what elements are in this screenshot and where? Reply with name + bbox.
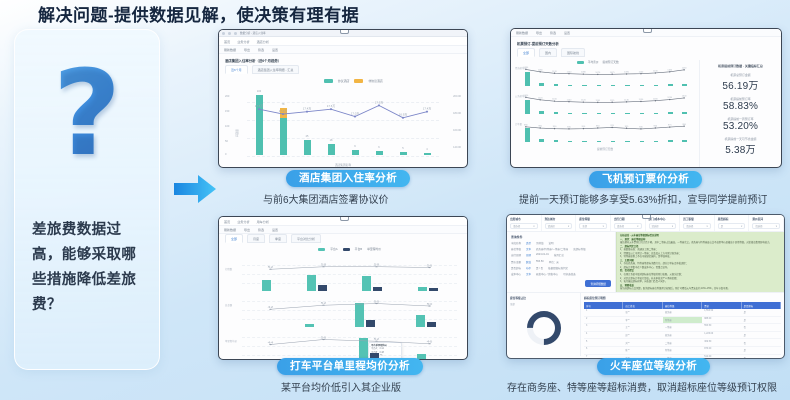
kpi-value: 5.38万 [703, 141, 778, 156]
toolbar-export[interactable]: 导出 [244, 228, 250, 232]
kpi-card: 机票提前一天可节省金额 5.38万 [703, 137, 778, 156]
toolbar-export[interactable]: 导出 [244, 48, 250, 52]
section-title: 酒店集团入住率分析（近6个月趋势） [219, 54, 467, 65]
filter-label: 出发城市 [510, 217, 538, 221]
dashboard-panel-train[interactable]: 出发城市请选择▾到达城市请选择▾座位等级全部▾出行日期请选择▾部门/成本中心请选… [506, 214, 785, 359]
svg-text:58: 58 [321, 263, 328, 266]
table-header-row: 序号员工姓名座位等级票价是否超标 [584, 302, 781, 309]
filter-input[interactable]: 请选择▾ [510, 223, 538, 229]
table-cell: 否 [742, 324, 781, 331]
filter-label: 出行日期 [614, 217, 642, 221]
legend-label: 平台B [355, 247, 362, 251]
filter-input[interactable]: 请选择▾ [614, 223, 642, 229]
legend-label: 非协议酒店 [368, 79, 382, 83]
svg-text:56: 56 [374, 300, 381, 303]
svg-text:1180: 1180 [667, 69, 672, 71]
tab-quarter[interactable]: 季度 [269, 234, 287, 243]
toolbar-refresh[interactable]: 刷新数据 [224, 48, 236, 52]
kpi-card: 机票总预订金额 56.19万 [703, 73, 778, 92]
chevron-down-icon: ▾ [776, 225, 777, 228]
filter-input[interactable]: 请选择▾ [649, 223, 677, 229]
table-cell: 是 [742, 347, 781, 354]
table-row[interactable]: 3王**一等座553.50否 [584, 324, 781, 332]
donut-title: 座位等级占比 [510, 296, 577, 300]
bar-group [305, 324, 314, 327]
svg-text:16.9万: 16.9万 [399, 113, 408, 117]
bar-group [416, 315, 436, 327]
tab-compare[interactable]: 平台对比分析 [291, 234, 321, 243]
list-item: 票价金额数值553.50单位：元 [511, 260, 611, 264]
svg-text:945: 945 [567, 126, 571, 128]
svg-text:950: 950 [582, 126, 586, 128]
badge-train: 火车座位等级分析 [597, 358, 710, 375]
query-condition-list: 查询条件 字段名称类型示例值说明座位等级文本商务座/特等座/一等座/二等座含超标… [507, 232, 616, 292]
table-cell: 6 [584, 347, 623, 354]
toolbar: 刷新数据 导出 筛选 设置 [219, 226, 467, 234]
kpi-value: 56.19万 [703, 77, 778, 92]
svg-text:17.9万: 17.9万 [375, 100, 384, 104]
svg-text:50: 50 [427, 302, 434, 305]
table-cell: 否 [742, 355, 781, 359]
caption-train: 存在商务座、特等座等超标消费，取消超标座位等级预订权限 [507, 379, 777, 394]
chevron-down-icon: ▾ [533, 225, 534, 228]
table-cell: 陈** [623, 347, 662, 354]
note-body: 1、按职级标准：普通员工限二等座；2、经理及以上可预订一等座；总监及以上方可预订… [620, 249, 781, 260]
filter-label: 到达城市 [545, 217, 573, 221]
filter-input[interactable]: 请选择▾ [545, 223, 573, 229]
bar-group [262, 280, 271, 291]
table-row[interactable]: 5刘**二等座309.50否 [584, 339, 781, 347]
tab-domestic[interactable]: 国内 [539, 48, 557, 57]
table-cell: 1,226.00 [702, 332, 741, 339]
chart-legend: 平台A 平台B 单里程均价 [318, 247, 381, 251]
bar-group [418, 287, 438, 291]
toolbar-settings[interactable]: 设置 [272, 228, 278, 232]
filter-input[interactable]: 请选择▾ [683, 223, 711, 229]
seat-class-donut: 座位等级占比 全部 [507, 293, 581, 356]
question-card: ? 差旅费数据过高，能够采取哪些措施降低差旅费？ [14, 29, 160, 370]
breadcrumb-item[interactable]: 首页 [224, 219, 230, 224]
filter-input[interactable]: 是▾ [718, 223, 746, 229]
table-cell: 否 [742, 339, 781, 346]
table-row[interactable]: 2李**特等座988.00是 [584, 317, 781, 325]
list-item: 是否超标布尔是 / 否依据职级标准判定 [511, 266, 611, 270]
filter-field[interactable]: 出发城市请选择▾ [507, 215, 542, 231]
question-mark-icon: ? [15, 54, 159, 172]
browser-chrome: 数据分析 - 酒店入住率 [219, 30, 467, 37]
table-cell: 1 [584, 309, 623, 316]
tab-strip[interactable]: 近6个月 酒店集团入住率明细 - 汇总 [219, 65, 467, 77]
svg-text:1070: 1070 [595, 72, 601, 74]
kpi-value: 53.20% [703, 121, 778, 132]
table-cell: 是 [742, 309, 781, 316]
y-axis-label: 间夜量 [235, 129, 239, 137]
kpi-panel-title: 机票提前预订数据 - 关键指标汇总 [703, 64, 778, 68]
y-tick: 150 [225, 110, 229, 113]
svg-text:975: 975 [668, 125, 672, 127]
note-body: 1、存在商务座、特等座等超标消费行为，部分订单未走审批流程；2、超标订单集中在少… [620, 263, 781, 270]
svg-text:1110: 1110 [596, 100, 601, 102]
tab-strip[interactable]: 全部 国内 国际航线 [511, 48, 781, 60]
table-cell: 刘** [623, 339, 662, 346]
grouped-bar-row: 总金额42525650 [224, 295, 462, 330]
note-body: 报告期内火车票预订共计若干笔，其中二等座占比最高，一等座次之，商务座与特等座虽占… [620, 242, 781, 246]
svg-text:990: 990 [682, 124, 686, 126]
toolbar-filter[interactable]: 筛选 [258, 48, 264, 52]
table-cell: 赵** [623, 332, 662, 339]
toolbar-filter[interactable]: 筛选 [258, 228, 264, 232]
caption-hotel: 与前6大集团酒店签署协议价 [263, 191, 389, 206]
tab-international[interactable]: 国际航线 [561, 48, 585, 57]
breadcrumb-item[interactable]: 业务分析 [237, 219, 249, 224]
kpi-card: 机票提前预订率 58.83% [703, 97, 778, 112]
legend-label: 平台A [330, 247, 337, 251]
table-header-cell: 票价 [702, 302, 741, 309]
y2-tick: 180.00 [453, 112, 461, 115]
caption-taxi: 某平台均价低引入其企业版 [281, 379, 401, 394]
svg-text:58: 58 [374, 263, 381, 266]
svg-text:1100: 1100 [639, 71, 644, 73]
toolbar-settings[interactable]: 设置 [272, 48, 278, 52]
list-title: 查询条件 [511, 235, 611, 239]
svg-text:980: 980 [524, 124, 528, 126]
table-cell: 特等座 [663, 317, 702, 324]
chevron-down-icon: ▾ [741, 225, 742, 228]
page-title: 解决问题-提供数据见解，使决策有理有据 [38, 1, 359, 26]
table-cell: 3 [584, 324, 623, 331]
svg-text:17.0万: 17.0万 [351, 111, 360, 115]
filter-field[interactable]: 部门/成本中心请选择▾ [646, 215, 681, 231]
legend-label: 单里程均价 [367, 247, 381, 251]
tab-all[interactable]: 全部 [517, 48, 535, 57]
svg-text:960: 960 [654, 126, 658, 128]
list-item: 成本中心文本研发中心 / 销售中心可多选筛选 [511, 272, 611, 276]
svg-text:970: 970 [610, 125, 614, 127]
toolbar-refresh[interactable]: 刷新数据 [516, 31, 528, 35]
svg-text:1115: 1115 [610, 100, 615, 102]
filter-field[interactable]: 座位等级全部▾ [576, 215, 611, 231]
x-axis-label: 提前预订天数 [515, 147, 695, 151]
toolbar-refresh[interactable]: 刷新数据 [224, 228, 236, 232]
toolbar-export[interactable]: 导出 [536, 31, 542, 35]
table-cell: 4 [584, 332, 623, 339]
series-label: 公务舱均价 [515, 94, 527, 98]
svg-text:52: 52 [268, 266, 274, 269]
table-cell: 是 [742, 332, 781, 339]
note-body: 1、在预订系统中取消超标座位等级的预订权限，从源头控制；2、对历史超标订单进行复… [620, 274, 781, 285]
table-cell: 876.00 [702, 347, 741, 354]
mini-chart-row: 980960950945950960970955945960975990订单量 [515, 120, 695, 146]
query-button[interactable]: 查询明细数据 [585, 280, 611, 287]
table-cell: 553.50 [702, 324, 741, 331]
note-block: 三、主要问题1、存在商务座、特等座等超标消费行为，部分订单未走审批流程；2、超标… [620, 260, 781, 271]
table-cell: 商务座 [663, 309, 702, 316]
table-cell: 988.00 [702, 317, 741, 324]
filter-field[interactable]: 是否超标是▾ [715, 215, 750, 231]
plot-area: 1007825189654 17.6万17.2万17.4万17.6万17.0万1… [247, 94, 439, 155]
y-tick: 100 [225, 125, 229, 128]
table-cell: 309.50 [702, 339, 741, 346]
breadcrumb: 首页 业务分析 酒店分析 [219, 37, 467, 46]
badge-flight: 飞机预订票价分析 [589, 171, 702, 188]
table-cell: 张** [623, 309, 662, 316]
table-cell: 特等座 [663, 347, 702, 354]
caption-flight: 提前一天预订能够多享受5.63%折扣，宣导同学提前预订 [519, 191, 767, 206]
note-body: 按当前超标占比测算，取消超标座位等级预订权限后，预计可降低火车票支出约 10%~… [620, 288, 781, 292]
table-header-cell: 是否超标 [742, 302, 781, 309]
toolbar-filter[interactable]: 筛选 [550, 31, 556, 35]
kpi-panel: 机票提前预订数据 - 关键指标汇总 机票总预订金额 56.19万 机票提前预订率… [699, 60, 781, 168]
svg-text:42: 42 [268, 306, 274, 309]
filter-bar[interactable]: 出发城市请选择▾到达城市请选择▾座位等级全部▾出行日期请选择▾部门/成本中心请选… [507, 215, 784, 232]
series-label: 订单量 [515, 122, 522, 126]
legend-label: 协议酒店 [338, 79, 350, 83]
svg-text:56: 56 [427, 264, 434, 267]
chevron-down-icon: ▾ [672, 225, 673, 228]
dashboard-panel-flight[interactable]: 刷新数据 导出 筛选 设置 机票预订-提前预订天数分析 全部 国内 国际航线 平… [510, 28, 782, 168]
donut-legend: 全部 [510, 302, 577, 306]
breadcrumb-item[interactable]: 用车分析 [257, 219, 269, 224]
filter-input[interactable]: 请选择▾ [752, 223, 780, 229]
flight-trend-charts: 平均票价 提前预订天数 1280118011201100108010701075… [511, 60, 699, 168]
filter-field[interactable]: 票价区间请选择▾ [749, 215, 784, 231]
svg-text:1075: 1075 [610, 72, 616, 74]
svg-text:945: 945 [639, 126, 643, 128]
table-cell: 李** [623, 317, 662, 324]
tab-all[interactable]: 全部 [225, 234, 243, 243]
overspend-table[interactable]: 超标座位预订明细 序号员工姓名座位等级票价是否超标 1张**商务座1,553.5… [581, 293, 784, 356]
list-item: 座位等级文本商务座/特等座/一等座/二等座含超标等级 [511, 247, 611, 251]
filter-label: 是否超标 [718, 217, 746, 221]
svg-text:17.4万: 17.4万 [303, 107, 312, 111]
svg-text:950: 950 [553, 126, 557, 128]
table-title: 超标座位预订明细 [584, 296, 781, 300]
y-tick: 0 [225, 153, 226, 156]
svg-text:1160: 1160 [552, 99, 557, 101]
svg-text:1140: 1140 [567, 99, 572, 101]
tab-month[interactable]: 月度 [247, 234, 265, 243]
toolbar-settings[interactable]: 设置 [564, 31, 570, 35]
svg-text:1100: 1100 [567, 71, 572, 73]
svg-text:44: 44 [268, 341, 275, 344]
table-cell: 商务座 [663, 332, 702, 339]
series-label: 经济舱均价 [515, 66, 527, 70]
dashboard-panel-hotel[interactable]: 数据分析 - 酒店入住率 首页 业务分析 酒店分析 刷新数据 导出 筛选 设置 … [218, 29, 468, 168]
tab-recent[interactable]: 近6个月 [225, 65, 248, 74]
svg-text:1260: 1260 [682, 67, 688, 69]
toolbar: 刷新数据 导出 筛选 设置 [511, 29, 781, 37]
x-axis-label: 酒店集团名称 [223, 163, 463, 167]
filter-label: 座位等级 [579, 217, 607, 221]
svg-text:1130: 1130 [624, 99, 629, 101]
filter-field[interactable]: 员工职级请选择▾ [680, 215, 715, 231]
table-row[interactable]: 6陈**特等座876.00是 [584, 347, 781, 355]
breadcrumb-item[interactable]: 酒店分析 [257, 39, 269, 44]
svg-text:17.6万: 17.6万 [327, 104, 336, 108]
svg-text:52: 52 [374, 338, 380, 341]
svg-text:955: 955 [625, 126, 629, 128]
breadcrumb-item[interactable]: 首页 [224, 39, 230, 44]
table-header-cell: 座位等级 [663, 302, 702, 309]
svg-text:56: 56 [321, 336, 328, 339]
svg-text:17.2万: 17.2万 [279, 109, 288, 113]
breadcrumb-item[interactable]: 业务分析 [237, 39, 249, 44]
toolbar: 刷新数据 导出 筛选 设置 [219, 46, 467, 54]
svg-text:17.6万: 17.6万 [255, 104, 264, 108]
row-label: 行程数 [225, 267, 232, 271]
list-item: 出行日期日期2023-01-01按月汇总 [511, 253, 611, 257]
svg-text:1300: 1300 [682, 95, 688, 97]
svg-text:1180: 1180 [653, 98, 658, 100]
donut-chart [524, 308, 564, 348]
note-block: 一、现状：座位等级结构报告期内火车票预订共计若干笔，其中二等座占比最高，一等座次… [620, 239, 781, 246]
grouped-bar-row: 行程数52585856 [224, 259, 462, 294]
filter-input[interactable]: 全部▾ [579, 223, 607, 229]
note-block: 四、优化建议1、在预订系统中取消超标座位等级的预订权限，从源头控制；2、对历史超… [620, 270, 781, 284]
kpi-card: 机票提前一周预订率 53.20% [703, 117, 778, 132]
svg-text:960: 960 [538, 126, 542, 128]
table-cell: 二等座 [663, 339, 702, 346]
svg-text:1120: 1120 [552, 71, 557, 73]
question-text: 差旅费数据过高，能够采取哪些措施降低差旅费？ [32, 218, 145, 318]
filter-label: 员工职级 [683, 217, 711, 221]
y-tick: 50 [225, 140, 228, 143]
table-row[interactable]: 4赵**商务座1,226.00是 [584, 332, 781, 340]
chart-legend: 协议酒店 非协议酒店 [324, 79, 383, 83]
table-cell: 是 [742, 317, 781, 324]
svg-text:1180: 1180 [538, 69, 543, 71]
grouped-bar-row: 平台单里程均价 平台A：3.12 平台B：3.48 差值：0.36 单里程均价4… [224, 331, 462, 360]
y-tick: 200 [225, 95, 229, 98]
table-header-cell: 员工姓名 [623, 302, 662, 309]
svg-text:1220: 1220 [538, 97, 544, 99]
tab-detail[interactable]: 酒店集团入住率明细 - 汇总 [252, 65, 300, 74]
line-series: 17.6万17.2万17.4万17.6万17.0万17.9万16.9万17.4万 [247, 94, 439, 163]
hotel-occupancy-chart: 协议酒店 非协议酒店 200 150 100 50 0 间夜量 200.00 1… [223, 79, 463, 167]
svg-text:17.4万: 17.4万 [423, 107, 432, 111]
table-row[interactable]: 1张**商务座1,553.50是 [584, 309, 781, 317]
svg-text:1080: 1080 [581, 72, 587, 74]
table-cell: 1,553.50 [702, 309, 741, 316]
mini-chart-row: 1280118011201100108010701075109011001130… [515, 64, 695, 90]
chevron-down-icon: ▾ [603, 225, 604, 228]
table-header-cell: 序号 [584, 302, 623, 309]
svg-text:52: 52 [321, 302, 327, 305]
note-block: 五、预期收益按当前超标占比测算，取消超标座位等级预订权限后，预计可降低火车票支出… [620, 285, 781, 292]
list-item: 字段名称类型示例值说明 [511, 241, 611, 245]
y2-tick: 140.00 [453, 146, 461, 149]
chevron-down-icon: ▾ [568, 225, 569, 228]
svg-text:960: 960 [596, 126, 600, 128]
table-cell: 5 [584, 339, 623, 346]
filter-field[interactable]: 到达城市请选择▾ [542, 215, 577, 231]
table-cell: 王** [623, 324, 662, 331]
section-title: 机票预订-提前预订天数分析 [511, 37, 781, 48]
browser-tab-label: 数据分析 - 酒店入住率 [240, 31, 266, 35]
y2-tick: 200.00 [453, 95, 461, 98]
filter-label: 部门/成本中心 [649, 217, 677, 221]
filter-field[interactable]: 出行日期请选择▾ [611, 215, 646, 231]
kpi-value: 58.83% [703, 101, 778, 112]
svg-text:1130: 1130 [653, 71, 658, 73]
filter-label: 票价区间 [752, 217, 780, 221]
row-label: 单里程均价 [225, 339, 237, 343]
badge-taxi: 打车平台单里程均价分析 [277, 358, 423, 375]
row-label: 总金额 [225, 303, 232, 307]
chevron-down-icon: ▾ [707, 225, 708, 228]
svg-text:1090: 1090 [624, 72, 630, 74]
arrow-right-icon [172, 172, 218, 206]
table-cell: 512.00 [702, 355, 741, 359]
svg-text:1230: 1230 [667, 97, 673, 99]
analysis-notes: 分析结论 - 火车座位等级超标情况说明 一、现状：座位等级结构报告期内火车票预订… [616, 232, 784, 292]
table-cell: 2 [584, 317, 623, 324]
y2-tick: 160.00 [453, 129, 461, 132]
svg-text:1150: 1150 [639, 99, 644, 101]
dashboard-panel-taxi[interactable]: 首页 业务分析 用车分析 刷新数据 导出 筛选 设置 全部 月度 季度 平台对比… [218, 216, 468, 360]
svg-text:1120: 1120 [581, 100, 586, 102]
note-block: 二、超标判定口径1、按职级标准：普通员工限二等座；2、经理及以上可预订一等座；总… [620, 246, 781, 260]
chevron-down-icon: ▾ [637, 225, 638, 228]
svg-text:46: 46 [427, 340, 434, 343]
tab-strip[interactable]: 全部 月度 季度 平台对比分析 [219, 234, 467, 246]
table-cell: 一等座 [663, 324, 702, 331]
badge-hotel: 酒店集团入住率分析 [286, 170, 410, 187]
mini-chart-row: 1320122011601140112011101115113011501180… [515, 92, 695, 118]
breadcrumb: 首页 业务分析 用车分析 [219, 217, 467, 226]
